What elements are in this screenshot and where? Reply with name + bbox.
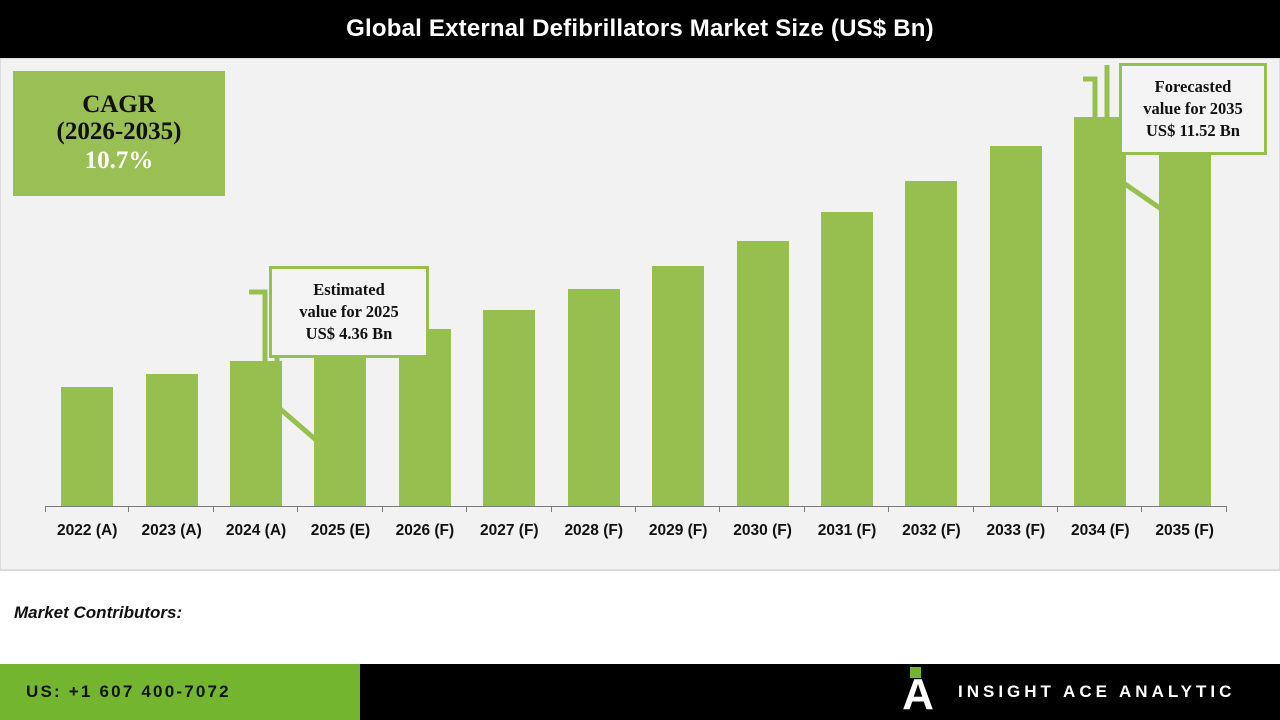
x-axis-label-2030: 2030 (F) — [720, 514, 804, 548]
x-axis-label-2029: 2029 (F) — [636, 514, 720, 548]
x-axis-label-2032: 2032 (F) — [889, 514, 973, 548]
x-axis-line — [45, 506, 1227, 507]
forecast-callout-line1: Forecasted — [1155, 76, 1232, 98]
brand-name: INSIGHT ACE ANALYTIC — [958, 682, 1235, 702]
bar-slot — [552, 59, 636, 506]
market-contributors-strip: Market Contributors: E Edwards GORE — [0, 570, 1280, 664]
forecast-callout-line2: value for 2035 — [1143, 98, 1243, 120]
bar-2023[interactable] — [146, 374, 198, 506]
footer-phone-number[interactable]: US: +1 607 400-7072 — [26, 682, 231, 702]
x-axis-label-2026: 2026 (F) — [383, 514, 467, 548]
bar-2032[interactable] — [905, 181, 957, 506]
x-axis-label-2024: 2024 (A) — [214, 514, 298, 548]
bar-2027[interactable] — [483, 310, 535, 506]
x-axis-label-2028: 2028 (F) — [552, 514, 636, 548]
x-axis-label-2027: 2027 (F) — [467, 514, 551, 548]
estimated-callout-line2: value for 2025 — [299, 301, 399, 323]
forecast-callout-line3: US$ 11.52 Bn — [1146, 120, 1240, 142]
bar-slot — [467, 59, 551, 506]
chart-panel: CAGR (2026-2035) 10.7% 2022 (A)2023 (A)2… — [0, 58, 1280, 570]
bar-slot — [720, 59, 804, 506]
footer-phone-block: US: +1 607 400-7072 — [0, 664, 360, 720]
x-axis-label-2022: 2022 (A) — [45, 514, 129, 548]
x-axis-label-2035: 2035 (F) — [1142, 514, 1226, 548]
bar-slot — [805, 59, 889, 506]
estimated-callout-line1: Estimated — [313, 279, 385, 301]
x-axis-label-2023: 2023 (A) — [129, 514, 213, 548]
x-axis-label-2033: 2033 (F) — [974, 514, 1058, 548]
bar-2030[interactable] — [737, 241, 789, 506]
title-bar: Global External Defibrillators Market Si… — [0, 0, 1280, 58]
bar-slot — [889, 59, 973, 506]
bar-2033[interactable] — [990, 146, 1042, 506]
bar-slot — [974, 59, 1058, 506]
forecast-value-callout: Forecasted value for 2035 US$ 11.52 Bn — [1119, 63, 1267, 155]
bar-series — [45, 59, 1227, 506]
x-axis-label-2025: 2025 (E) — [298, 514, 382, 548]
estimated-value-callout: Estimated value for 2025 US$ 4.36 Bn — [269, 266, 429, 358]
bar-2028[interactable] — [568, 289, 620, 506]
x-axis-label-2031: 2031 (F) — [805, 514, 889, 548]
bar-2022[interactable] — [61, 387, 113, 506]
market-contributors-label: Market Contributors: — [14, 603, 182, 623]
bar-slot — [45, 59, 129, 506]
footer-brand: A INSIGHT ACE ANALYTIC — [900, 664, 1235, 720]
brand-initial: A — [900, 675, 936, 715]
bar-slot — [129, 59, 213, 506]
x-axis-labels: 2022 (A)2023 (A)2024 (A)2025 (E)2026 (F)… — [45, 514, 1227, 548]
bar-2029[interactable] — [652, 266, 704, 506]
insight-ace-logo-icon: A — [900, 669, 936, 715]
footer-bar: US: +1 607 400-7072 A INSIGHT ACE ANALYT… — [0, 664, 1280, 720]
estimated-callout-line3: US$ 4.36 Bn — [306, 323, 393, 345]
x-axis-label-2034: 2034 (F) — [1058, 514, 1142, 548]
page-title: Global External Defibrillators Market Si… — [346, 15, 934, 43]
infographic-page: Global External Defibrillators Market Si… — [0, 0, 1280, 720]
bar-2031[interactable] — [821, 212, 873, 506]
bar-slot — [636, 59, 720, 506]
